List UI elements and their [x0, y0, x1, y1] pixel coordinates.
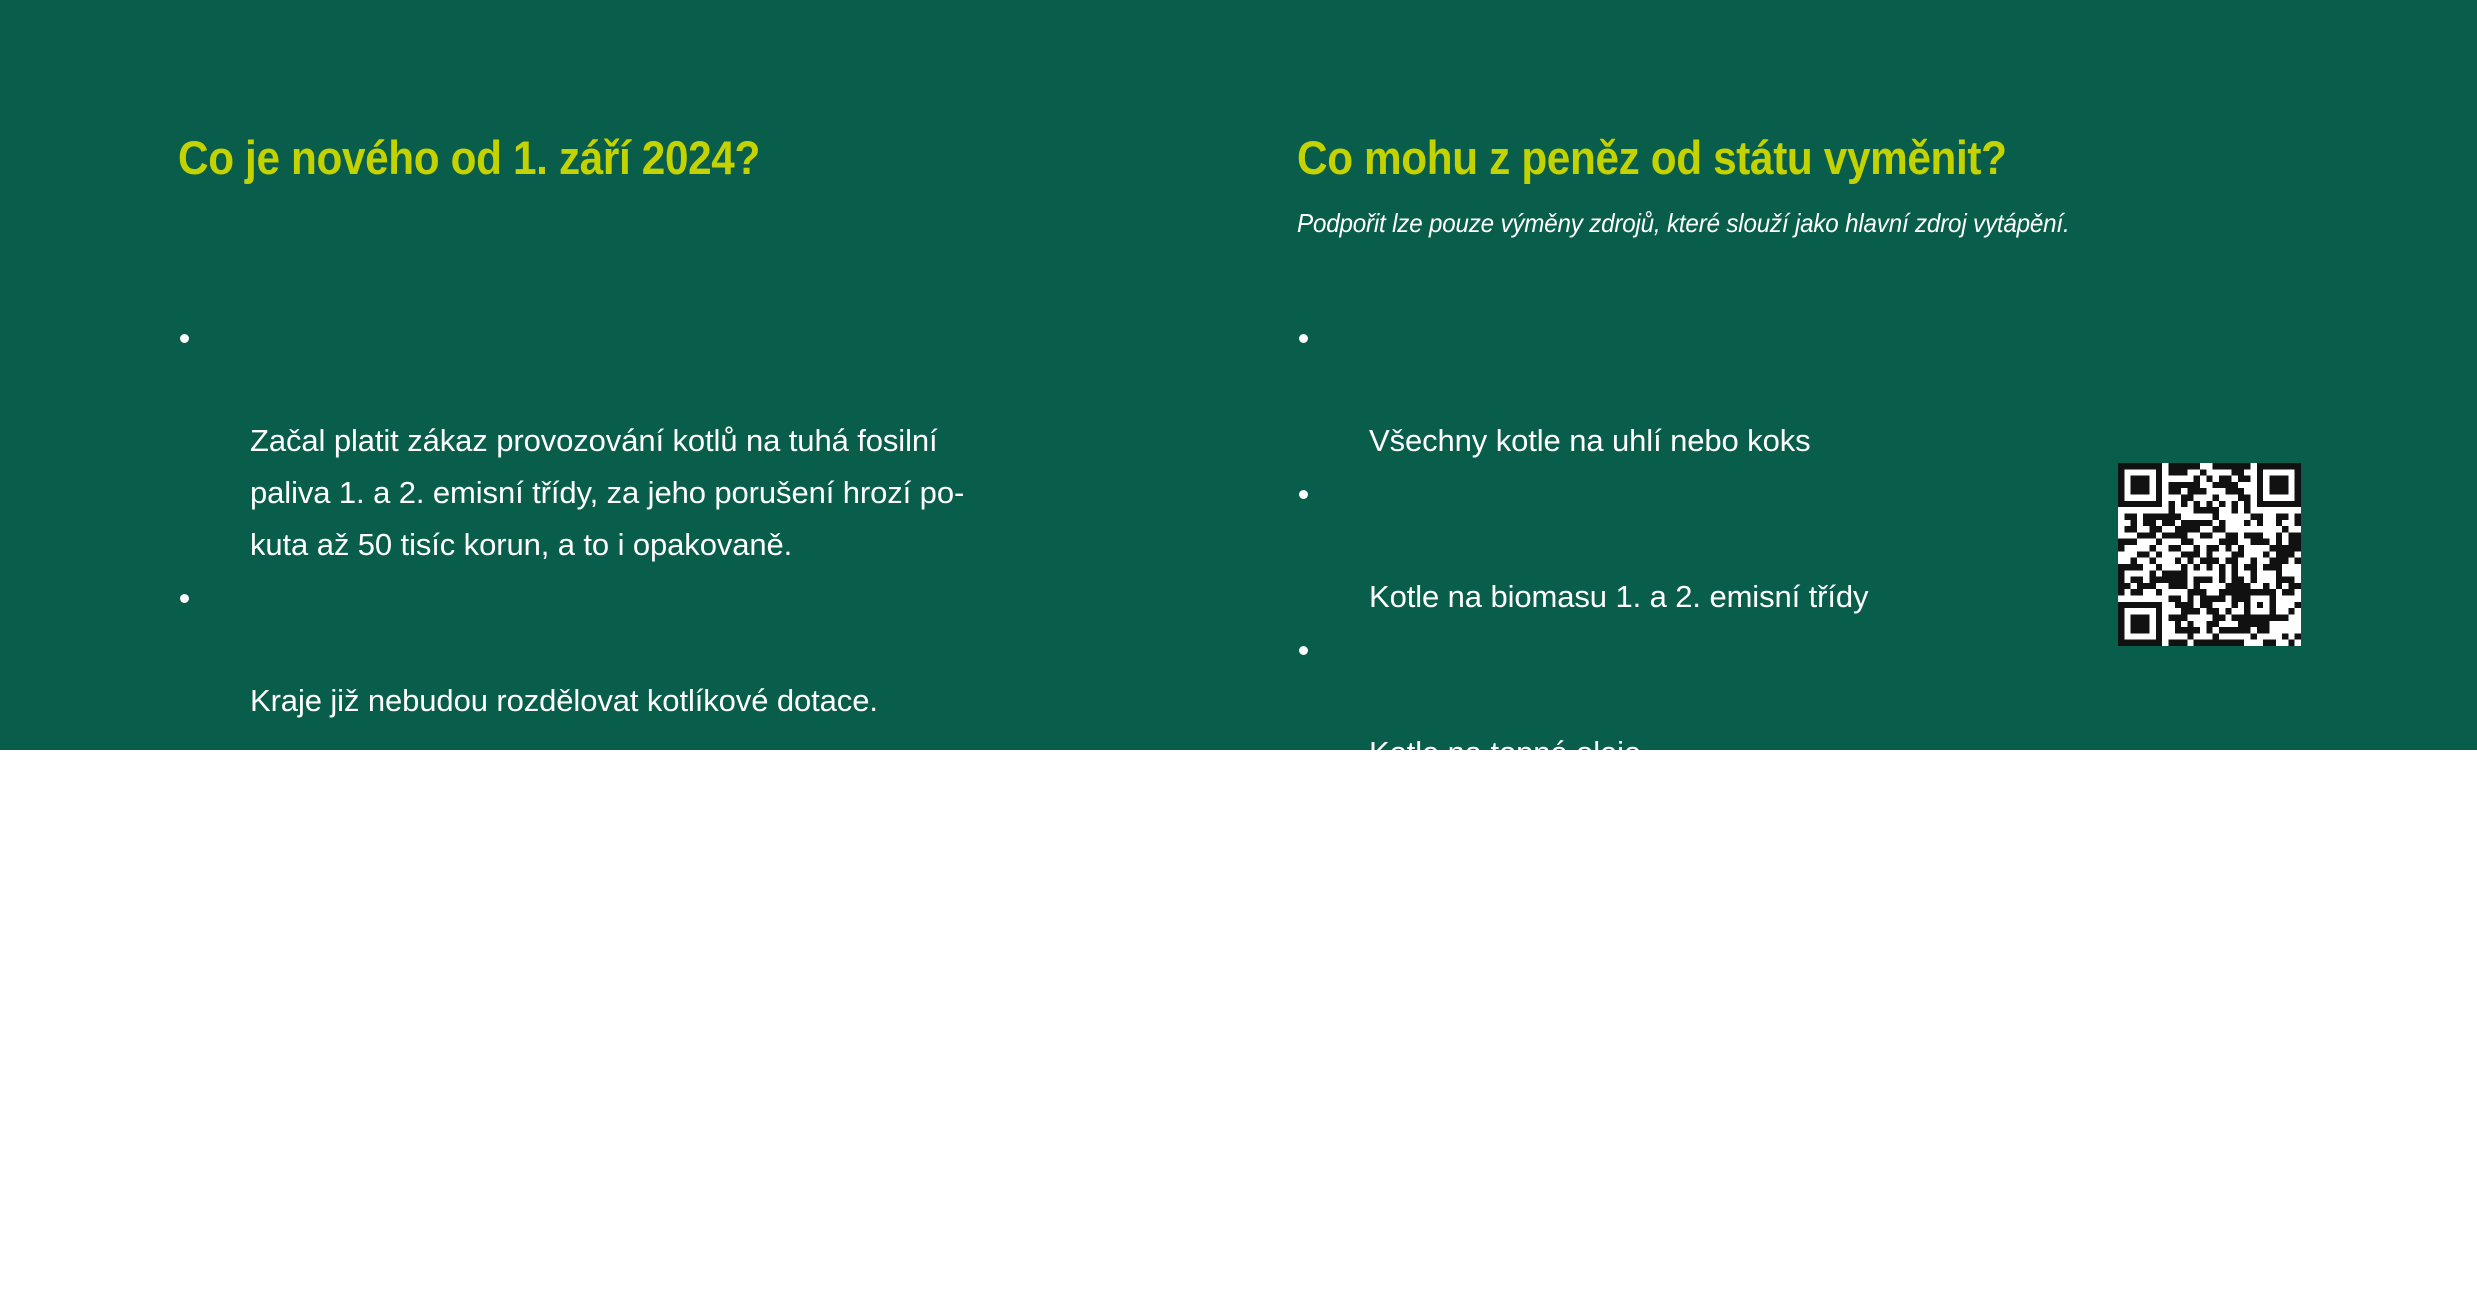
right-column-bullet-list: Všechny kotle na uhlí nebo koks Kotle na… [1297, 311, 2297, 1299]
list-item: Plynové kotle v zateplených domech za te… [1297, 1091, 2297, 1299]
list-item: Kotle na topné oleje [1297, 623, 2297, 779]
poster-root: Co je nového od 1. září 2024? Začal plat… [0, 0, 2477, 750]
qr-code-image [2118, 463, 2301, 646]
qr-code[interactable] [2118, 463, 2301, 646]
list-item-label: Kraje již nebudou rozdělovat kotlíkové d… [250, 683, 878, 718]
bullet-dot-icon [180, 750, 189, 759]
list-item-label: Plynové kotle v zateplených domech za te… [1369, 1203, 1867, 1290]
bullet-dot-icon [1299, 802, 1308, 811]
list-item-label: Všechny kotle na uhlí nebo koks [1369, 423, 1811, 458]
bullet-dot-icon [1299, 1114, 1308, 1123]
list-item-label: Kamna a jiná stará lokální topidla [1369, 891, 1822, 926]
bullet-dot-icon [1299, 490, 1308, 499]
list-item-label: Začal platit zákaz provozování kotlů na … [250, 423, 964, 562]
list-item: Elektrické vytápění za tepelné čerpadlo [1297, 935, 2297, 1091]
list-item: Začal platit zákaz provozování kotlů na … [178, 311, 1238, 571]
left-column: Co je nového od 1. září 2024? Začal plat… [178, 0, 1238, 750]
list-item-label: Elektrické vytápění za tepelné čerpadlo [1369, 1047, 1904, 1082]
list-item-label: Všechny domácnosti mohou nyní požádat o … [250, 839, 991, 978]
bullet-dot-icon [180, 594, 189, 603]
right-column-heading: Co mohu z peněz od státu vyměnit? [1297, 133, 2007, 183]
bullet-dot-icon [180, 334, 189, 343]
left-column-heading: Co je nového od 1. září 2024? [178, 133, 760, 183]
bullet-dot-icon [1299, 958, 1308, 967]
list-item-label: Kotle na topné oleje [1369, 735, 1641, 770]
list-item: Všechny domácnosti mohou nyní požádat o … [178, 727, 1238, 987]
left-column-bullet-list: Začal platit zákaz provozování kotlů na … [178, 311, 1238, 987]
bullet-dot-icon [1299, 646, 1308, 655]
list-item: Kamna a jiná stará lokální topidla [1297, 779, 2297, 935]
list-item: Kraje již nebudou rozdělovat kotlíkové d… [178, 571, 1238, 727]
list-item-label: Kotle na biomasu 1. a 2. emisní třídy [1369, 579, 1868, 614]
right-column-subtitle: Podpořit lze pouze výměny zdrojů, které … [1297, 207, 2069, 239]
bullet-dot-icon [1299, 334, 1308, 343]
list-item: Všechny kotle na uhlí nebo koks [1297, 311, 2297, 467]
